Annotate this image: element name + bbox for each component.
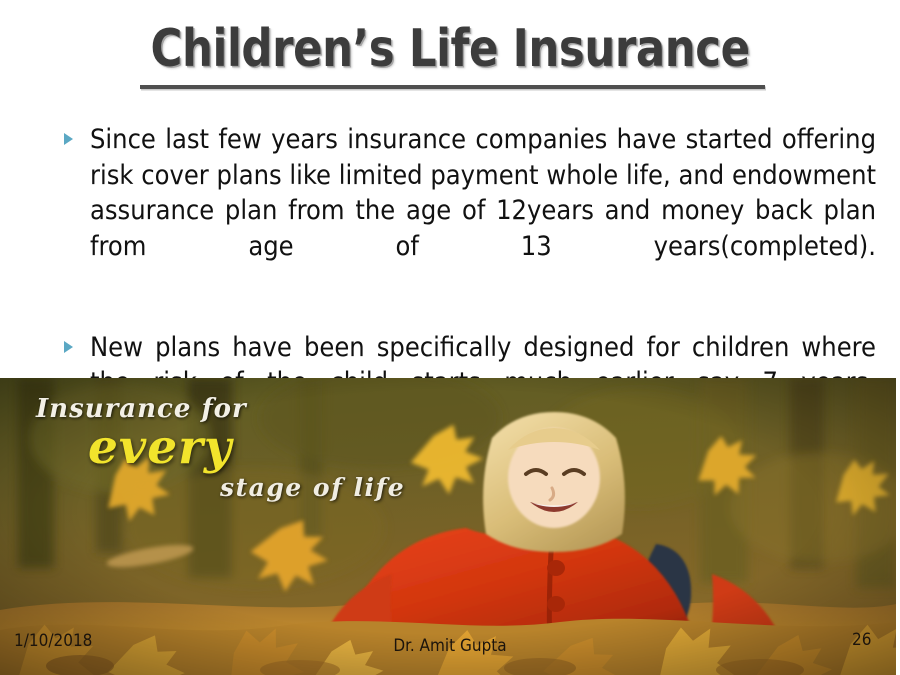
bullet-text: Since last few years insurance companies… [90,122,876,300]
slide-photo: Insurance for every stage of life [0,378,896,675]
list-item: Since last few years insurance companies… [58,122,876,300]
title-underline-rule [140,85,765,89]
triangle-right-icon [64,133,73,145]
autumn-forest-child-image [0,378,896,675]
footer-author: Dr. Amit Gupta [0,636,900,656]
triangle-right-icon [64,341,73,353]
presentation-slide: Children’s Life Insurance Since last few… [0,0,900,675]
title-block: Children’s Life Insurance [0,22,900,81]
right-margin-strip [896,0,900,675]
page-title: Children’s Life Insurance [145,22,755,81]
footer-page-number: 26 [852,630,871,650]
